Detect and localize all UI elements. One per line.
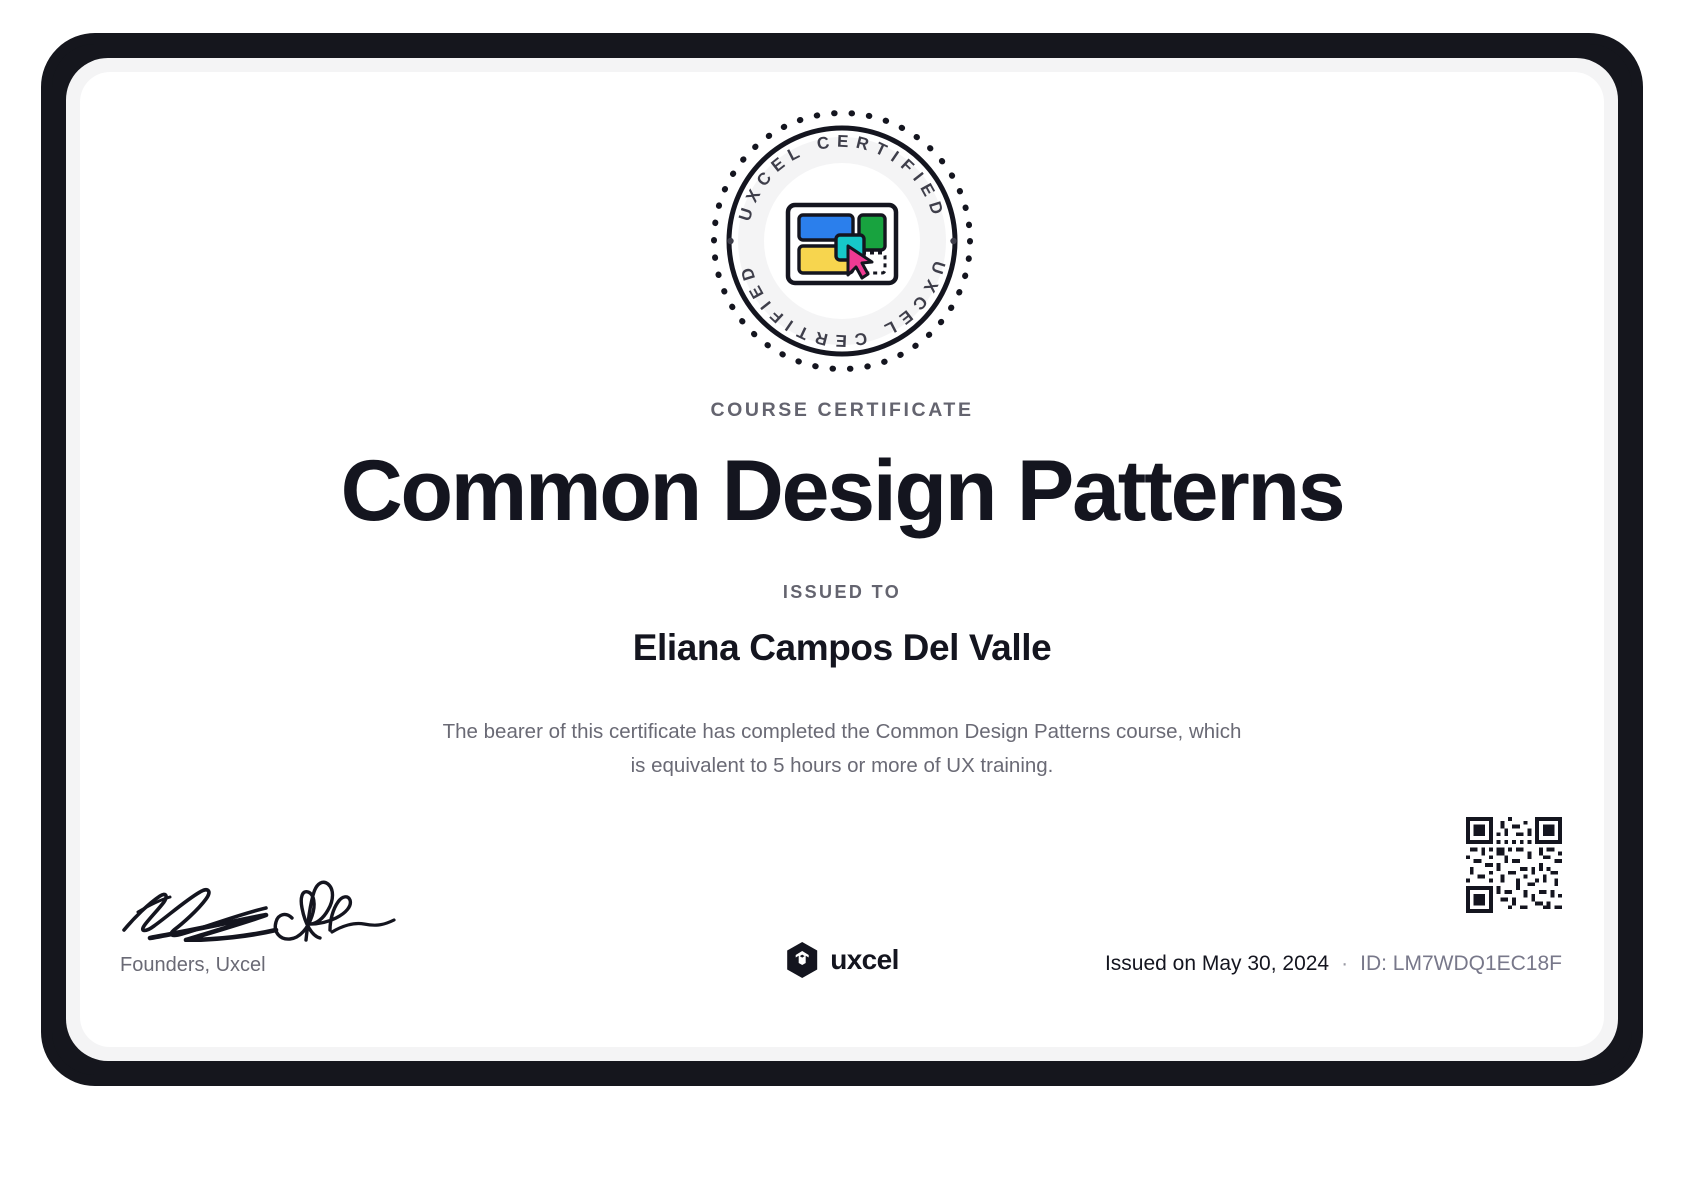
eyebrow-label: COURSE CERTIFICATE xyxy=(710,399,973,422)
uxcel-brand-lockup: uxcel xyxy=(785,941,899,979)
uxcel-logo-icon xyxy=(785,941,819,979)
certificate-footer: Founders, Uxcel uxcel xyxy=(80,843,1604,1023)
founders-signatures-image xyxy=(120,866,408,942)
meta-separator: · xyxy=(1341,952,1348,976)
design-patterns-layout-icon xyxy=(788,205,896,283)
certificate-description: The bearer of this certificate has compl… xyxy=(442,715,1242,783)
issued-to-label: ISSUED TO xyxy=(783,582,901,603)
issued-on-date: Issued on May 30, 2024 xyxy=(1105,952,1329,976)
recipient-name: Eliana Campos Del Valle xyxy=(633,627,1052,669)
issue-metadata: Issued on May 30, 2024 · ID: LM7WDQ1EC18… xyxy=(1105,952,1562,976)
page-title: Common Design Patterns xyxy=(341,448,1344,534)
verification-qr-code[interactable] xyxy=(1466,817,1562,913)
certificate-card: UXCEL CERTIFIED UXCEL CERTIFIED xyxy=(80,72,1604,1047)
certificate-outer-frame: UXCEL CERTIFIED UXCEL CERTIFIED xyxy=(41,33,1643,1086)
certificate-inner-mat: UXCEL CERTIFIED UXCEL CERTIFIED xyxy=(66,58,1618,1061)
certificate-id: ID: LM7WDQ1EC18F xyxy=(1360,952,1562,976)
uxcel-certified-seal: UXCEL CERTIFIED UXCEL CERTIFIED xyxy=(706,105,978,377)
uxcel-brand-name: uxcel xyxy=(830,944,899,976)
signature-caption: Founders, Uxcel xyxy=(120,954,420,977)
signature-block: Founders, Uxcel xyxy=(120,866,420,977)
